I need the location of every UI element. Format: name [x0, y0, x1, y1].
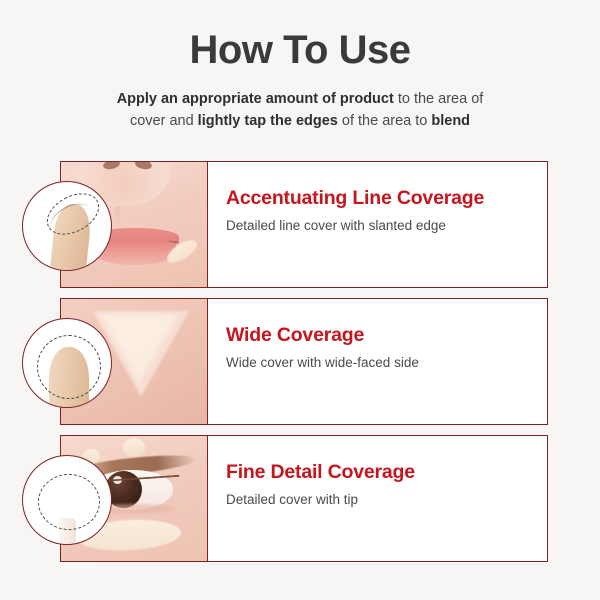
card-text-panel: Accentuating Line Coverage Detailed line…	[208, 162, 547, 287]
subtitle-text-1: to the area of	[394, 91, 483, 107]
card-description: Detailed line cover with slanted edge	[226, 218, 547, 234]
nostril-left	[102, 162, 120, 171]
card-description: Detailed cover with tip	[226, 492, 547, 508]
applied-product-triangle-inner	[101, 315, 177, 383]
dashed-circle-outline-icon	[37, 335, 101, 399]
header: How To Use Apply an appropriate amount o…	[0, 0, 600, 133]
card-text-panel: Fine Detail Coverage Detailed cover with…	[208, 436, 547, 561]
fine-tip-applicator-inset	[22, 455, 112, 545]
coverage-card-accentuating-line[interactable]: Accentuating Line Coverage Detailed line…	[60, 161, 548, 288]
subtitle-bold-1: Apply an appropriate amount of product	[117, 91, 394, 107]
card-title: Fine Detail Coverage	[226, 462, 547, 483]
wide-face-applicator-inset	[22, 318, 112, 408]
card-title: Accentuating Line Coverage	[226, 188, 547, 209]
card-description: Wide cover with wide-faced side	[226, 355, 547, 371]
coverage-card-wide[interactable]: Wide Coverage Wide cover with wide-faced…	[60, 298, 548, 425]
slanted-edge-applicator-inset	[22, 181, 112, 271]
nostril-right	[134, 162, 152, 171]
coverage-card-fine-detail[interactable]: Fine Detail Coverage Detailed cover with…	[60, 435, 548, 562]
page-title: How To Use	[0, 30, 600, 70]
dashed-ellipse-outline-icon	[38, 474, 100, 530]
subtitle-text-2: cover and	[130, 113, 198, 129]
page-subtitle: Apply an appropriate amount of product t…	[85, 88, 515, 133]
subtitle-text-3: of the area to	[338, 113, 432, 129]
card-title: Wide Coverage	[226, 325, 547, 346]
card-text-panel: Wide Coverage Wide cover with wide-faced…	[208, 299, 547, 424]
applied-product-dot-right	[123, 438, 145, 457]
subtitle-bold-3: blend	[431, 113, 470, 129]
how-to-use-page: How To Use Apply an appropriate amount o…	[0, 0, 600, 600]
subtitle-bold-2: lightly tap the edges	[198, 113, 338, 129]
coverage-card-list: Accentuating Line Coverage Detailed line…	[60, 161, 548, 562]
